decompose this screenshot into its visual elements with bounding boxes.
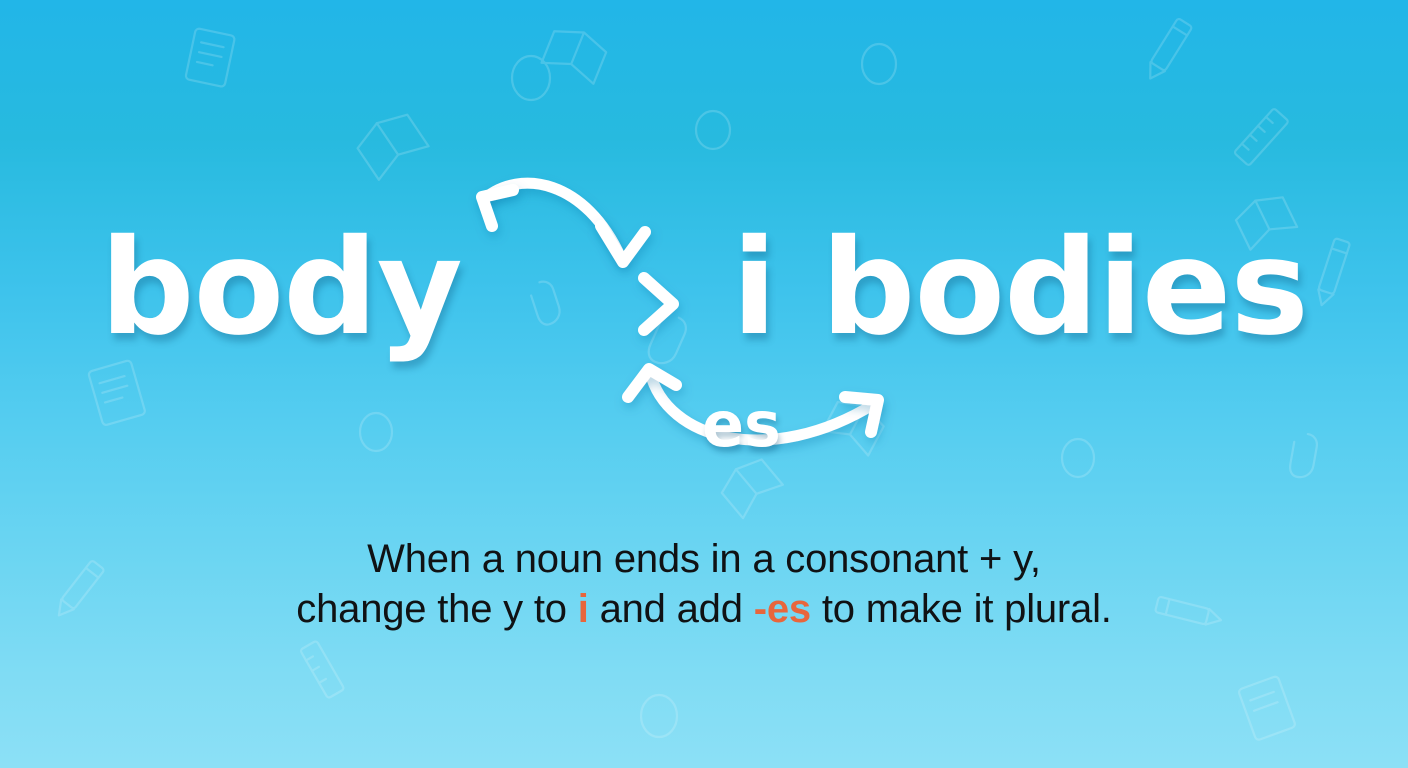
notebook-doodle-icon bbox=[1238, 676, 1296, 741]
ruler-doodle-icon bbox=[300, 641, 344, 699]
circle-doodle-icon bbox=[1062, 439, 1094, 477]
caption-highlight-es: -es bbox=[754, 587, 811, 631]
ruler-doodle-icon bbox=[1234, 108, 1289, 166]
open-book-doodle-icon bbox=[352, 106, 429, 179]
circle-doodle-icon bbox=[862, 44, 896, 84]
open-book-doodle-icon bbox=[542, 22, 610, 84]
circle-doodle-icon bbox=[696, 111, 730, 149]
open-book-doodle-icon bbox=[822, 394, 888, 455]
notebook-doodle-icon bbox=[88, 360, 146, 426]
plural-phrase: i bodies bbox=[732, 222, 1308, 354]
caption-line-1: When a noun ends in a consonant + y, bbox=[0, 534, 1408, 584]
pencil-doodle-icon bbox=[1143, 18, 1192, 83]
circle-doodle-icon bbox=[512, 56, 550, 100]
suffix-label: es bbox=[702, 394, 781, 456]
arrow-layer bbox=[0, 0, 1408, 768]
replacement-letter: i bbox=[732, 211, 776, 365]
caption-block: When a noun ends in a consonant + y, cha… bbox=[0, 534, 1408, 634]
paperclip-doodle-icon bbox=[1288, 432, 1318, 479]
singular-word: body bbox=[100, 222, 462, 354]
caption-part-1: change the y to bbox=[296, 587, 577, 631]
caption-part-2: and add bbox=[589, 587, 754, 631]
background-doodle-pattern bbox=[0, 0, 1408, 768]
headline-row: body i bodies bbox=[0, 222, 1408, 354]
circle-doodle-icon bbox=[360, 413, 392, 451]
plural-word: bodies bbox=[821, 211, 1308, 365]
slide-canvas: body i bodies es When a noun ends in a c… bbox=[0, 0, 1408, 768]
caption-line-2: change the y to i and add -es to make it… bbox=[0, 584, 1408, 634]
open-book-doodle-icon bbox=[716, 453, 783, 519]
circle-doodle-icon bbox=[641, 695, 677, 737]
caption-highlight-i: i bbox=[578, 587, 589, 631]
caption-part-3: to make it plural. bbox=[811, 587, 1112, 631]
notebook-doodle-icon bbox=[185, 28, 235, 87]
